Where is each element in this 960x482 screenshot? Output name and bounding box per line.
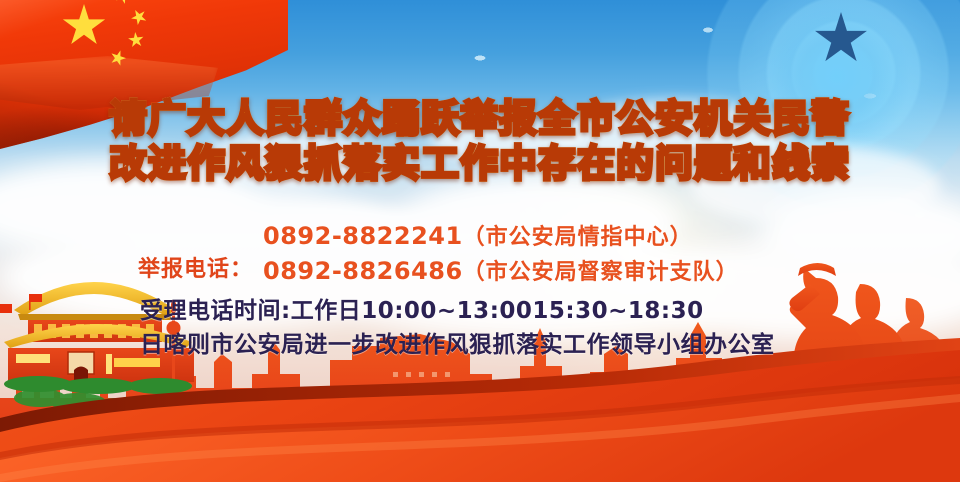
footer-block: 受理电话时间:工作日10:00~13:0015:30~18:30 日喀则市公安局… (140, 298, 775, 359)
hotline-org: （市公安局情指中心） (463, 225, 693, 250)
police-report-banner: 请广大人民群众踊跃举报全市公安机关民警 改进作风狠抓落实工作中存在的问题和线索 … (0, 0, 960, 482)
flag-small-star-icon (127, 31, 145, 49)
saluting-police-officers-silhouette (774, 234, 960, 424)
flag-large-star-icon (62, 4, 106, 48)
service-hours: 受理电话时间:工作日10:00~13:0015:30~18:30 (140, 298, 775, 325)
hotline-number: 0892-8822241 (263, 222, 463, 250)
hotline-org: （市公安局督察审计支队） (463, 260, 739, 285)
hotline-list: 0892-8822241（市公安局情指中心） 0892-8826486（市公安局… (263, 222, 739, 287)
issuing-office: 日喀则市公安局进一步改进作风狠抓落实工作领导小组办公室 (140, 332, 775, 359)
hotline-label: 举报电话： (138, 251, 253, 283)
cloud-layer (0, 40, 960, 340)
hotline-item[interactable]: 0892-8826486（市公安局督察审计支队） (263, 257, 739, 287)
report-hotline-block: 举报电话： 0892-8822241（市公安局情指中心） 0892-882648… (138, 222, 739, 287)
headline-line-2: 改进作风狠抓落实工作中存在的问题和线索 (0, 141, 960, 186)
hotline-number: 0892-8826486 (263, 257, 463, 285)
headline-block: 请广大人民群众踊跃举报全市公安机关民警 改进作风狠抓落实工作中存在的问题和线索 (0, 96, 960, 186)
blue-star-icon (814, 12, 868, 66)
hotline-item[interactable]: 0892-8822241（市公安局情指中心） (263, 222, 739, 252)
headline-line-1: 请广大人民群众踊跃举报全市公安机关民警 (0, 96, 960, 141)
flag-small-star-icon (108, 48, 128, 68)
flag-small-star-icon (113, 0, 134, 6)
police-badge-emblem (404, 364, 574, 482)
flag-small-star-icon (128, 6, 151, 29)
